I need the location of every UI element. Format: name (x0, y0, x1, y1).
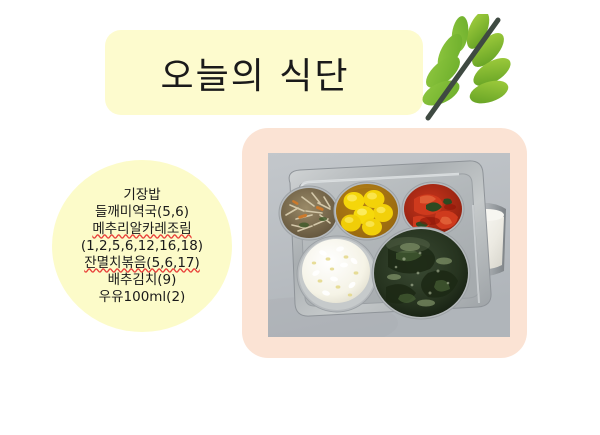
menu-item: 우유100ml(2) (99, 289, 186, 306)
compartment-quail-egg-curry (334, 182, 400, 240)
menu-item-allergens: (1,2,5,6,12,16,18) (81, 238, 203, 255)
menu-item: 들깨미역국(5,6) (95, 204, 189, 221)
compartment-anchovy (279, 186, 339, 240)
menu-item: 잔멸치볶음(5,6,17) (84, 255, 200, 272)
leaf-icon (404, 14, 516, 130)
menu-item: 배추김치(9) (108, 272, 177, 289)
page-title: 오늘의 식단 (105, 30, 405, 115)
menu-item: 기장밥 (123, 187, 160, 204)
compartment-seaweed-soup (372, 227, 470, 319)
meal-tray-photo (268, 153, 510, 337)
compartment-rice (297, 236, 377, 312)
menu-list: 기장밥 들깨미역국(5,6) 메추리알카레조림 (1,2,5,6,12,16,1… (52, 160, 232, 332)
menu-item: 메추리알카레조림 (92, 221, 191, 238)
